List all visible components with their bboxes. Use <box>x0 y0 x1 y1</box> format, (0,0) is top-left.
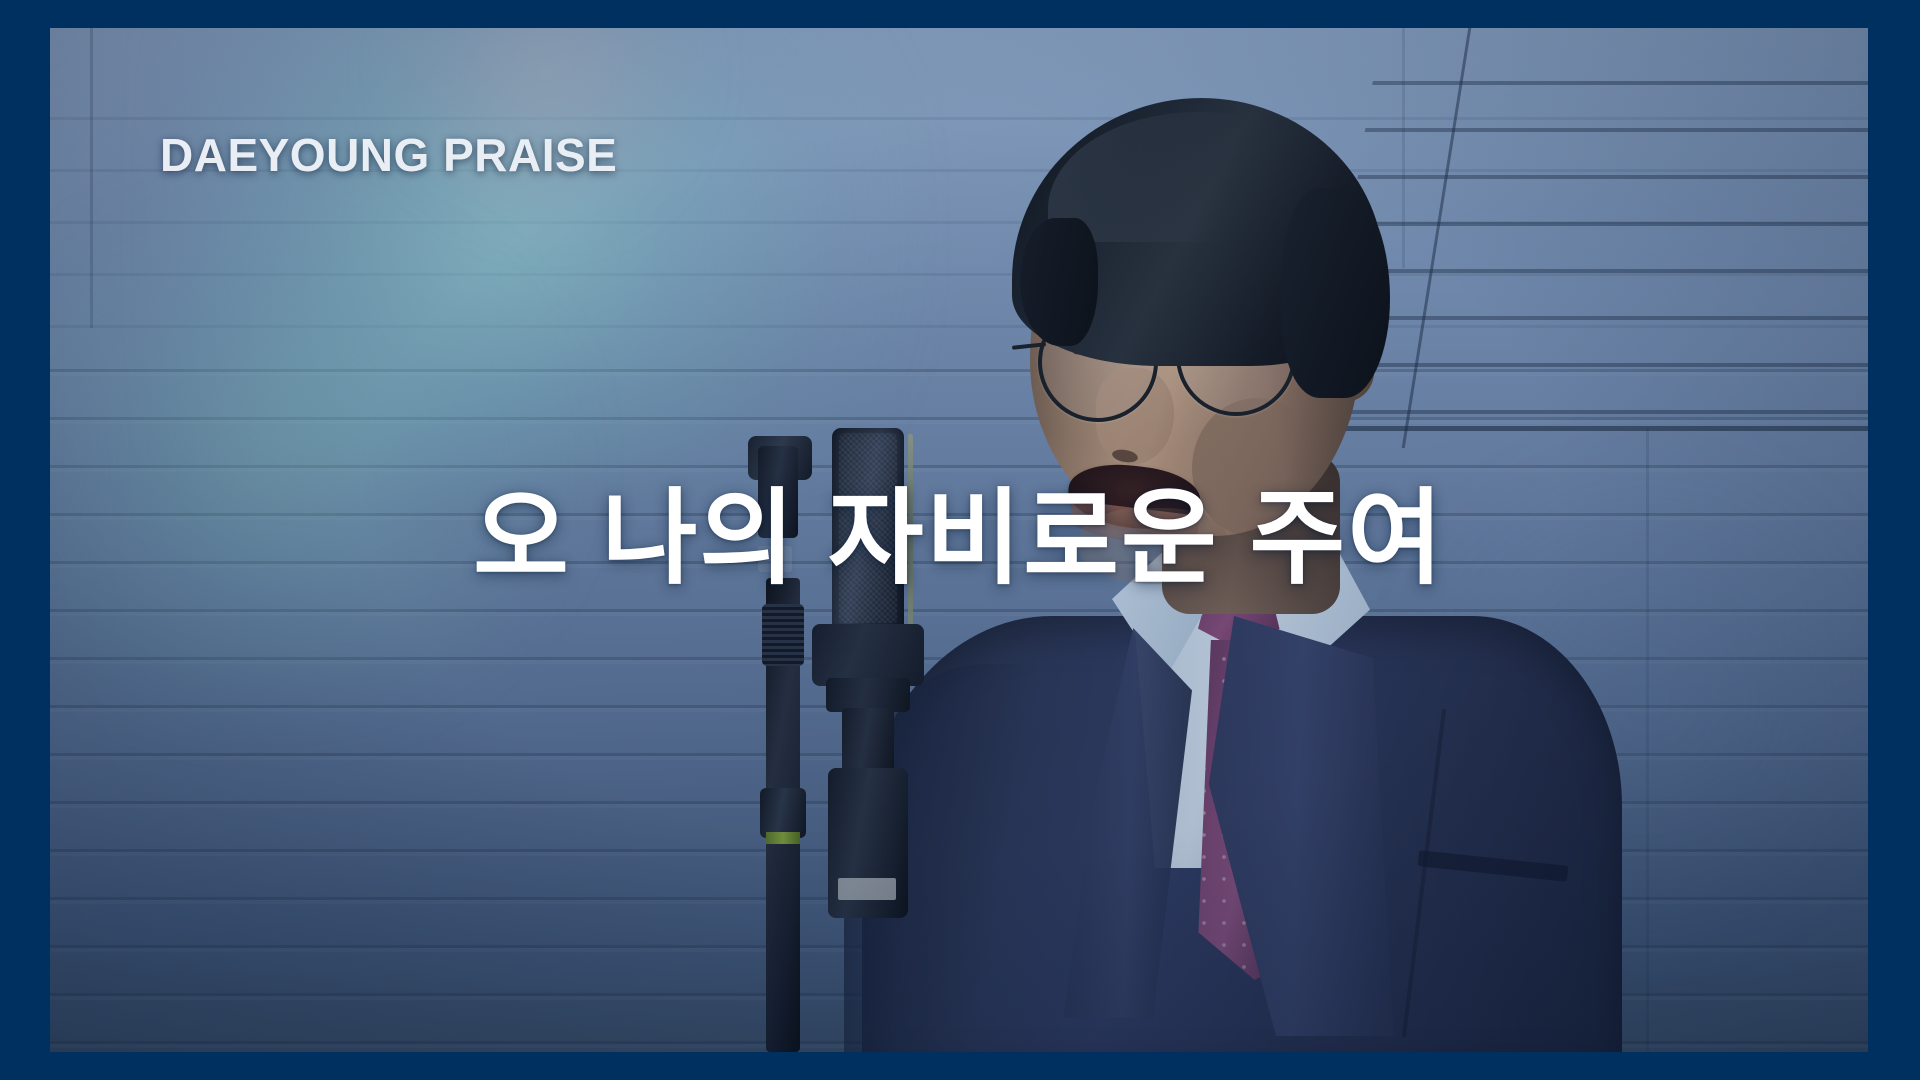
video-stage: DAEYOUNG PRAISE 오 나의 자비로운 주여 <box>50 28 1868 1052</box>
song-title: 오 나의 자비로운 주여 <box>50 483 1868 595</box>
brand-title: DAEYOUNG PRAISE <box>160 128 617 182</box>
video-frame: DAEYOUNG PRAISE 오 나의 자비로운 주여 <box>0 0 1920 1080</box>
